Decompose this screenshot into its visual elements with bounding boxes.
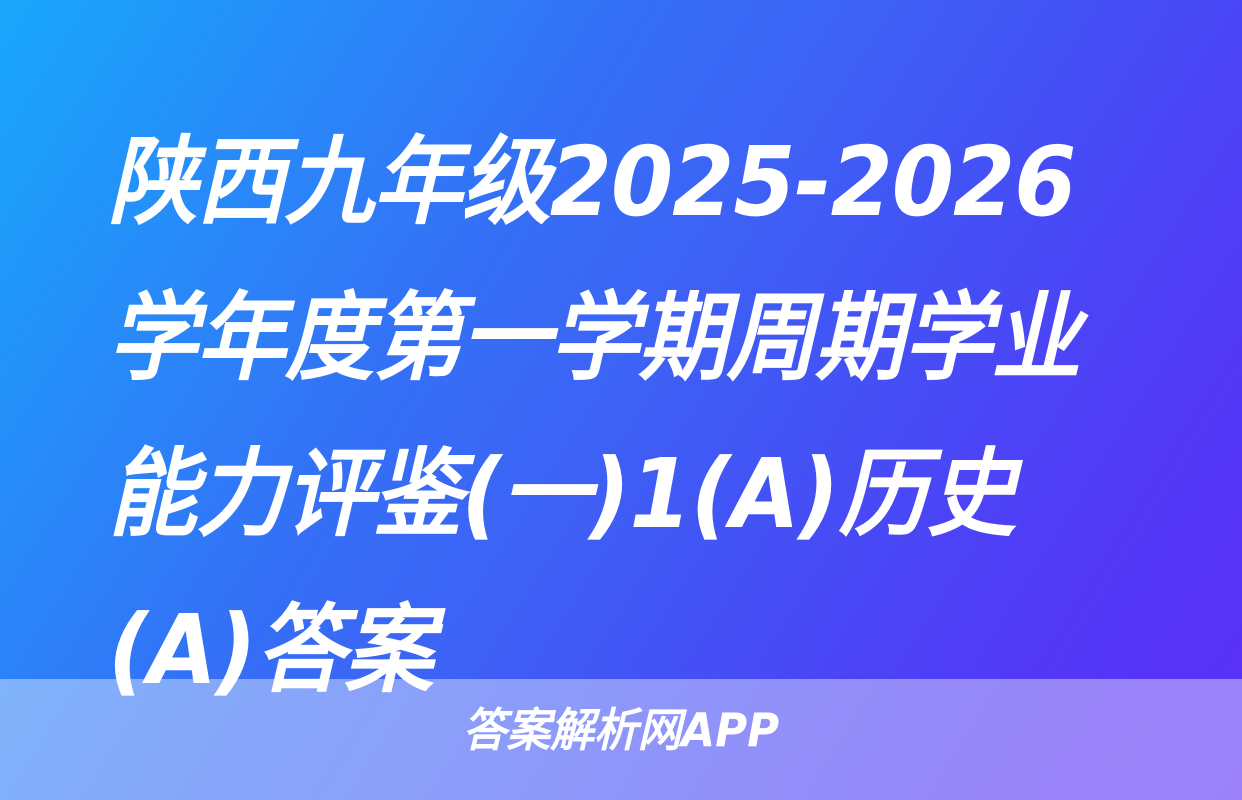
- page-title: 陕西九年级2025-2026学年度第一学期周期学业能力评鉴(一)1(A)历史(A…: [108, 104, 1098, 728]
- poster-canvas: 陕西九年级2025-2026学年度第一学期周期学业能力评鉴(一)1(A)历史(A…: [0, 0, 1242, 800]
- footer-watermark: 答案解析网APP: [31, 699, 1211, 761]
